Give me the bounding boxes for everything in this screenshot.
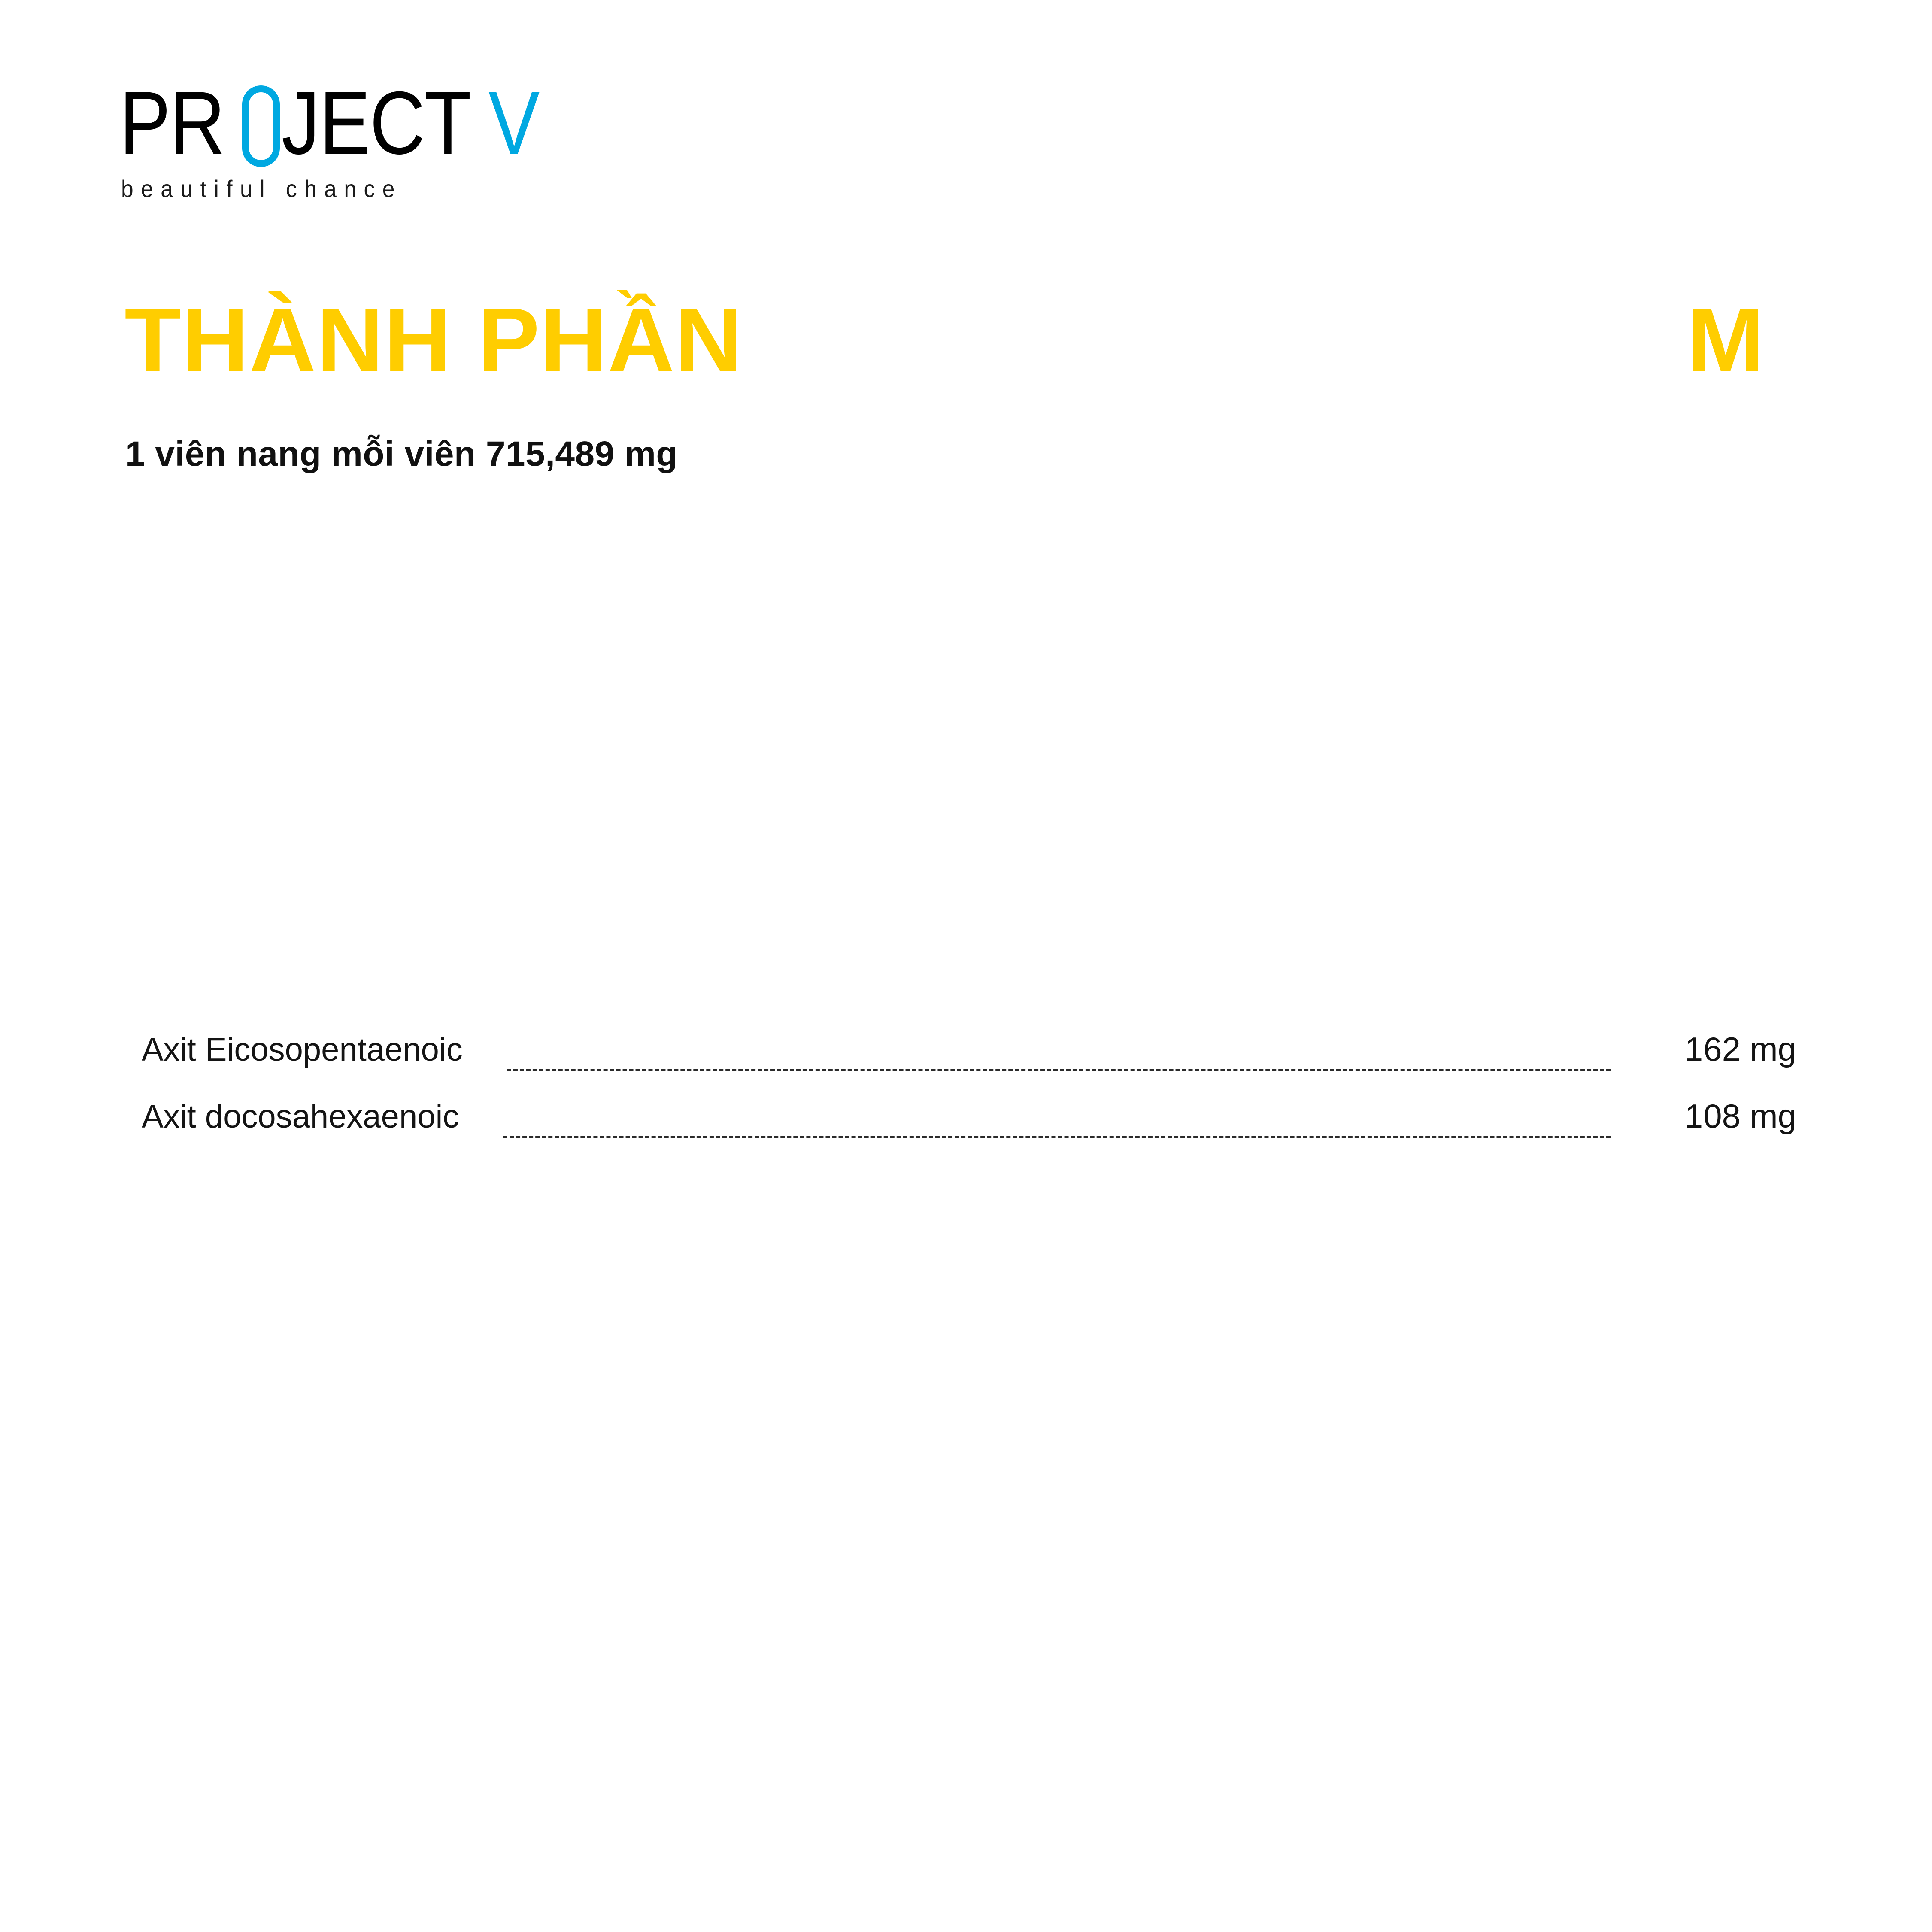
page-title: THÀNH PHẦN bbox=[124, 288, 743, 391]
ingredient-amount: 162 mg bbox=[1655, 1030, 1796, 1068]
logo-tagline: beautiful chance bbox=[121, 176, 402, 202]
ingredient-list: Axit Eicosopentaenoic 162 mg Axit docosa… bbox=[142, 1030, 1796, 1164]
ingredient-row: Axit Eicosopentaenoic 162 mg bbox=[142, 1030, 1796, 1097]
ingredient-name: Axit Eicosopentaenoic bbox=[142, 1031, 463, 1069]
logo-capsule-o-icon bbox=[242, 85, 280, 167]
dotted-leader bbox=[470, 1069, 1647, 1070]
ingredient-name: Axit docosahexaenoic bbox=[142, 1098, 459, 1136]
page-title-right-fragment: M bbox=[1687, 288, 1764, 391]
project-v-logo: PR JECT V beautiful chance bbox=[119, 79, 570, 208]
ingredient-row: Axit docosahexaenoic 108 mg bbox=[142, 1097, 1796, 1164]
heading-row: THÀNH PHẦN M bbox=[124, 288, 1799, 396]
dotted-leader bbox=[467, 1136, 1647, 1137]
logo-text-v: V bbox=[488, 79, 539, 167]
ingredient-label-page: PR JECT V beautiful chance THÀNH PHẦN M … bbox=[0, 0, 1932, 1932]
ingredient-amount: 108 mg bbox=[1655, 1097, 1796, 1135]
serving-size-subtitle: 1 viên nang mỗi viên 715,489 mg bbox=[125, 434, 678, 475]
logo-text-pr: PR bbox=[119, 79, 224, 167]
logo-text-ject: JECT bbox=[282, 79, 470, 167]
